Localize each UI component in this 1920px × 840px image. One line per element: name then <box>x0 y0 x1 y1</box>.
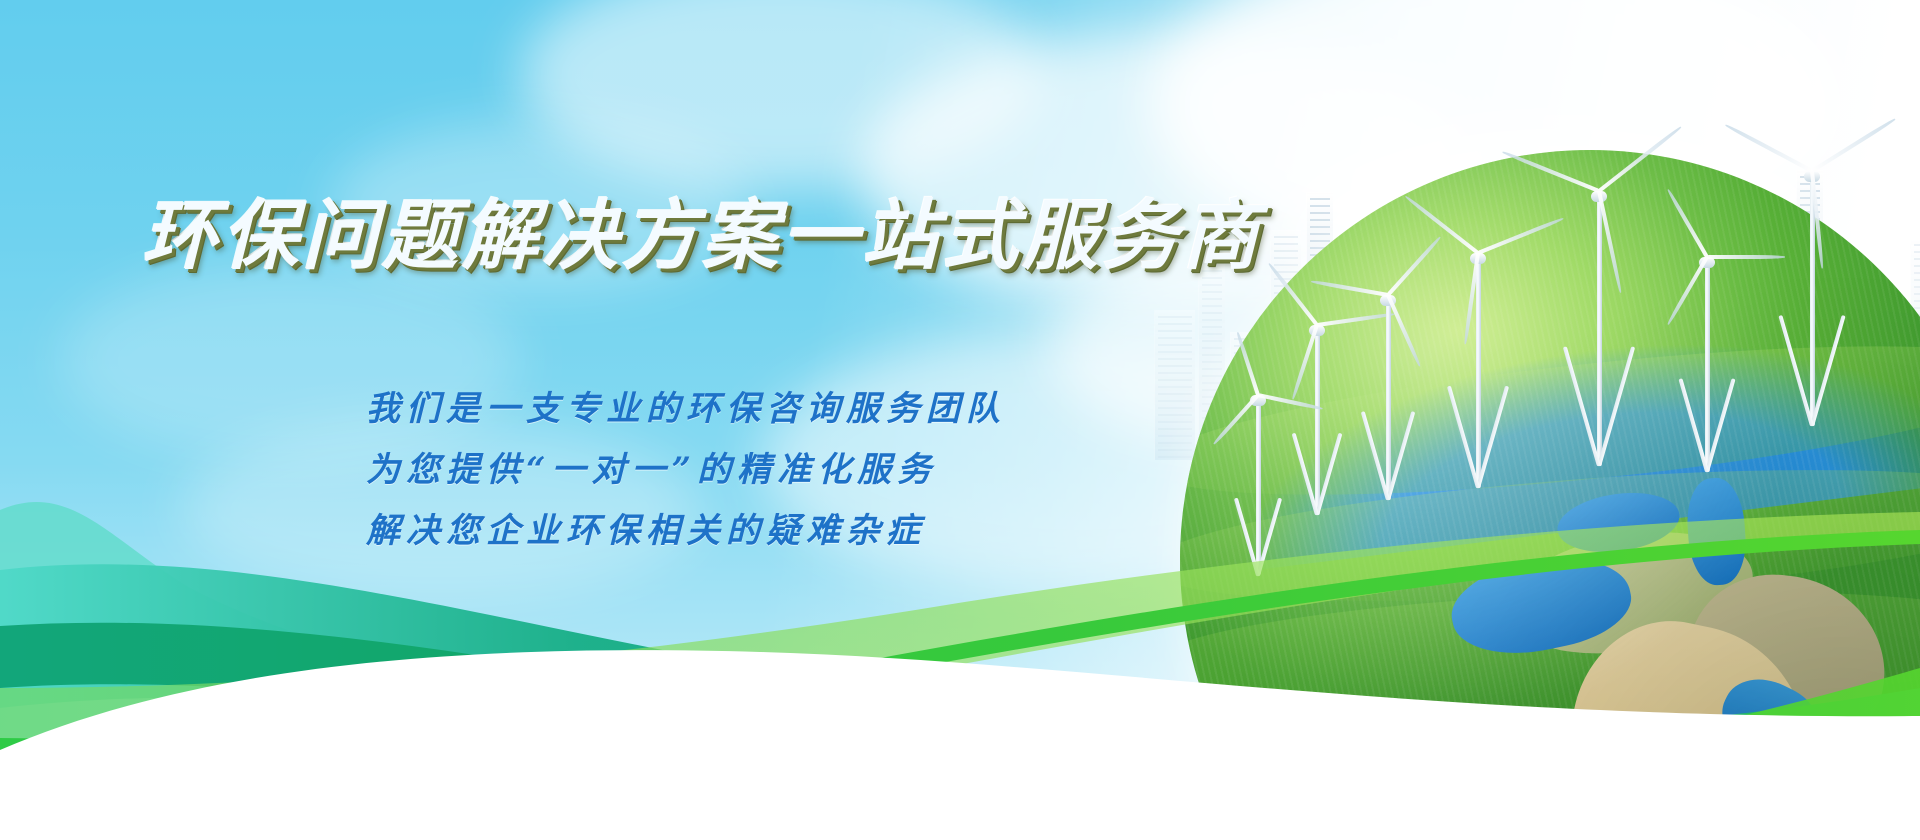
turbine-hub <box>1699 257 1715 268</box>
turbine-hub <box>1591 191 1607 202</box>
turbine-blade <box>1386 294 1421 367</box>
bottom-white-wash <box>0 580 1920 840</box>
subtitle-line-2: 为您提供“一对一”的精准化服务 <box>366 453 1006 487</box>
subtitle-line-3: 解决您企业环保相关的疑难杂症 <box>366 514 1006 548</box>
turbine-hub <box>1309 325 1325 336</box>
turbine-blade <box>1666 256 1708 326</box>
wind-turbine <box>1772 176 1852 426</box>
subtitle-block: 我们是一支专业的环保咨询服务团队 为您提供“一对一”的精准化服务 解决您企业环保… <box>366 392 1006 548</box>
eco-hero-banner: 环保问题解决方案一站式服务商 我们是一支专业的环保咨询服务团队 为您提供“一对一… <box>0 0 1920 840</box>
turbine-hub <box>1470 253 1486 264</box>
subtitle-line-1: 我们是一支专业的环保咨询服务团队 <box>366 392 1006 426</box>
turbine-hub <box>1250 395 1266 406</box>
turbine-hub <box>1804 171 1820 182</box>
page-title: 环保问题解决方案一站式服务商 <box>142 198 1262 274</box>
turbine-hub <box>1380 295 1396 306</box>
